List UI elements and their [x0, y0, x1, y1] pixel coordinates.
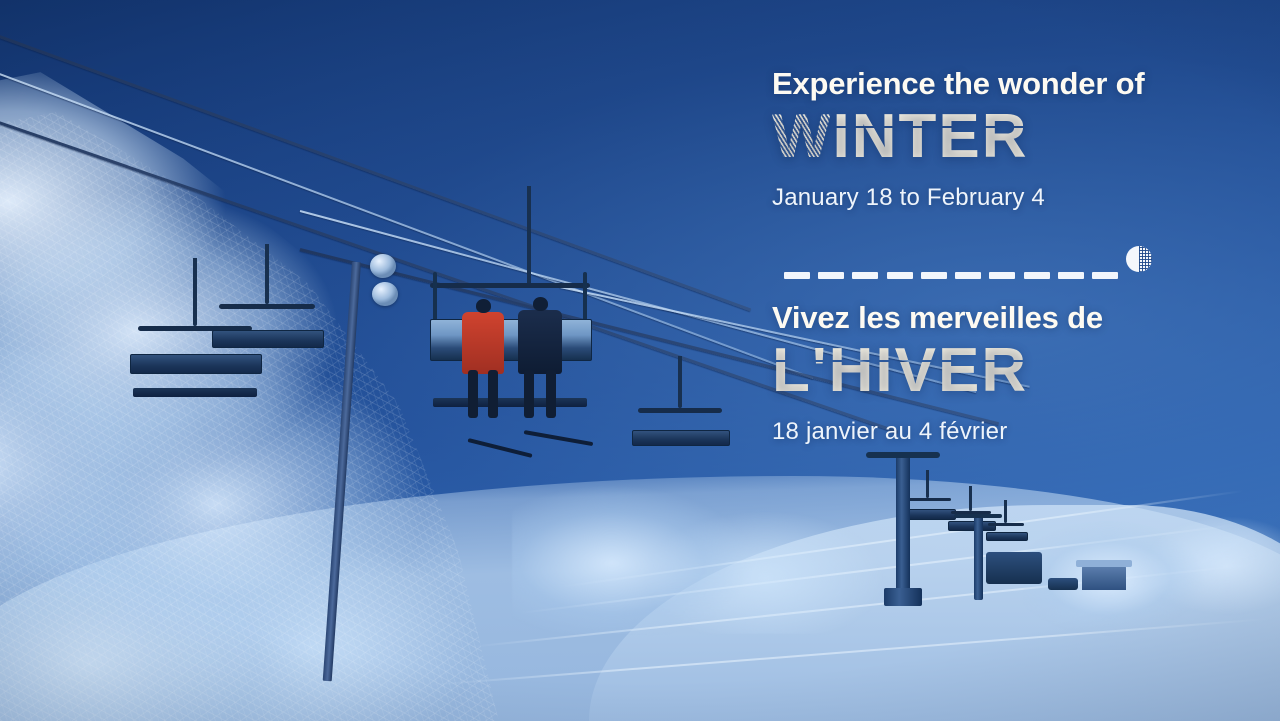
- wordmark-letter-e: E: [938, 340, 981, 402]
- chair-hanger: [527, 186, 531, 287]
- lamp-head: [372, 282, 398, 306]
- chair-top-bar: [430, 283, 590, 288]
- skier-leg: [488, 370, 498, 418]
- skier-leg: [468, 370, 478, 418]
- wordmark-letter-i: I: [833, 106, 852, 168]
- lift-tower-crossarm: [954, 514, 1002, 518]
- english-copy-block: Experience the wonder of WINTER January …: [772, 66, 1242, 212]
- chair-footrest: [433, 398, 587, 407]
- english-headline: Experience the wonder of: [772, 66, 1242, 102]
- chairlift-with-skiers: [430, 186, 590, 366]
- chair-seat: [986, 532, 1028, 541]
- lamp-head: [370, 254, 396, 278]
- chair-hanger: [678, 356, 682, 408]
- frosted-trees-right: [1024, 483, 1280, 642]
- dash-segment: [818, 272, 844, 279]
- french-headline: Vivez les merveilles de: [772, 300, 1242, 336]
- skier-dark-jacket: [518, 310, 562, 374]
- chair-seat: [212, 330, 324, 348]
- chair-footrest: [133, 388, 258, 397]
- dash-segment: [887, 272, 913, 279]
- dash-segment: [989, 272, 1015, 279]
- slope-hut: [1082, 566, 1126, 590]
- english-dates: January 18 to February 4: [772, 184, 1242, 212]
- chair-backrest: [219, 304, 316, 309]
- chair-backrest: [988, 523, 1023, 526]
- chair-hanger: [193, 258, 197, 326]
- skier-red-jacket: [462, 312, 504, 374]
- skier-helmet: [533, 297, 548, 311]
- lift-tower: [896, 452, 910, 598]
- chair-hanger: [265, 244, 269, 304]
- wordmark-apostrophe: ': [812, 340, 829, 402]
- chair-hanger: [969, 486, 972, 511]
- wordmark-letter-r: R: [981, 340, 1028, 402]
- wordmark-letter-t: T: [899, 106, 939, 168]
- french-wordmark: L'HIVER: [772, 340, 1242, 402]
- dash-segment: [955, 272, 981, 279]
- chair-hanger: [1004, 500, 1007, 523]
- lift-tower-base: [884, 588, 922, 606]
- wordmark-letter-h: H: [829, 340, 876, 402]
- chair-backrest: [638, 408, 722, 413]
- divider: [784, 246, 1184, 288]
- lift-tower-far: [974, 514, 983, 600]
- dash-segment: [784, 272, 810, 279]
- french-dates: 18 janvier au 4 février: [772, 418, 1242, 446]
- chair-hanger: [926, 470, 929, 498]
- dash-segment: [921, 272, 947, 279]
- skier-leg: [524, 370, 534, 418]
- wordmark-letter-l: L: [772, 340, 812, 402]
- chair-backrest: [905, 498, 951, 501]
- slope-hut-roof: [1076, 560, 1132, 567]
- wordmark-letter-v: V: [895, 340, 938, 402]
- lift-tower-crossarm: [866, 452, 940, 458]
- chair-seat: [430, 319, 592, 361]
- wordmark-letter-i: I: [875, 340, 894, 402]
- wordmark-letter-r: R: [982, 106, 1029, 168]
- french-copy-block: Vivez les merveilles de L'HIVER 18 janvi…: [772, 300, 1242, 446]
- dash-segment: [1024, 272, 1050, 279]
- snow-groomer: [986, 552, 1042, 584]
- dash-segment: [1092, 272, 1118, 279]
- logo-grid-half: [1139, 246, 1152, 272]
- english-wordmark: WINTER: [772, 106, 1242, 168]
- slope-equipment: [1048, 578, 1078, 590]
- skier-helmet: [476, 299, 491, 313]
- chairlift-distant: [986, 500, 1026, 544]
- dash-segment: [1058, 272, 1084, 279]
- chairlift-empty: [212, 244, 322, 364]
- chair-seat: [632, 430, 730, 446]
- skier-leg: [546, 370, 556, 418]
- half-grid-circle-logo: [1126, 246, 1152, 272]
- winter-promo-banner: Experience the wonder of WINTER January …: [0, 0, 1280, 721]
- wordmark-letter-w: W: [772, 106, 833, 168]
- chairlift-empty: [632, 356, 728, 456]
- wordmark-letter-e: E: [938, 106, 981, 168]
- dashed-rule: [784, 272, 1118, 279]
- frosted-trees-middle: [512, 447, 896, 634]
- dash-segment: [852, 272, 878, 279]
- wordmark-letter-n: N: [852, 106, 899, 168]
